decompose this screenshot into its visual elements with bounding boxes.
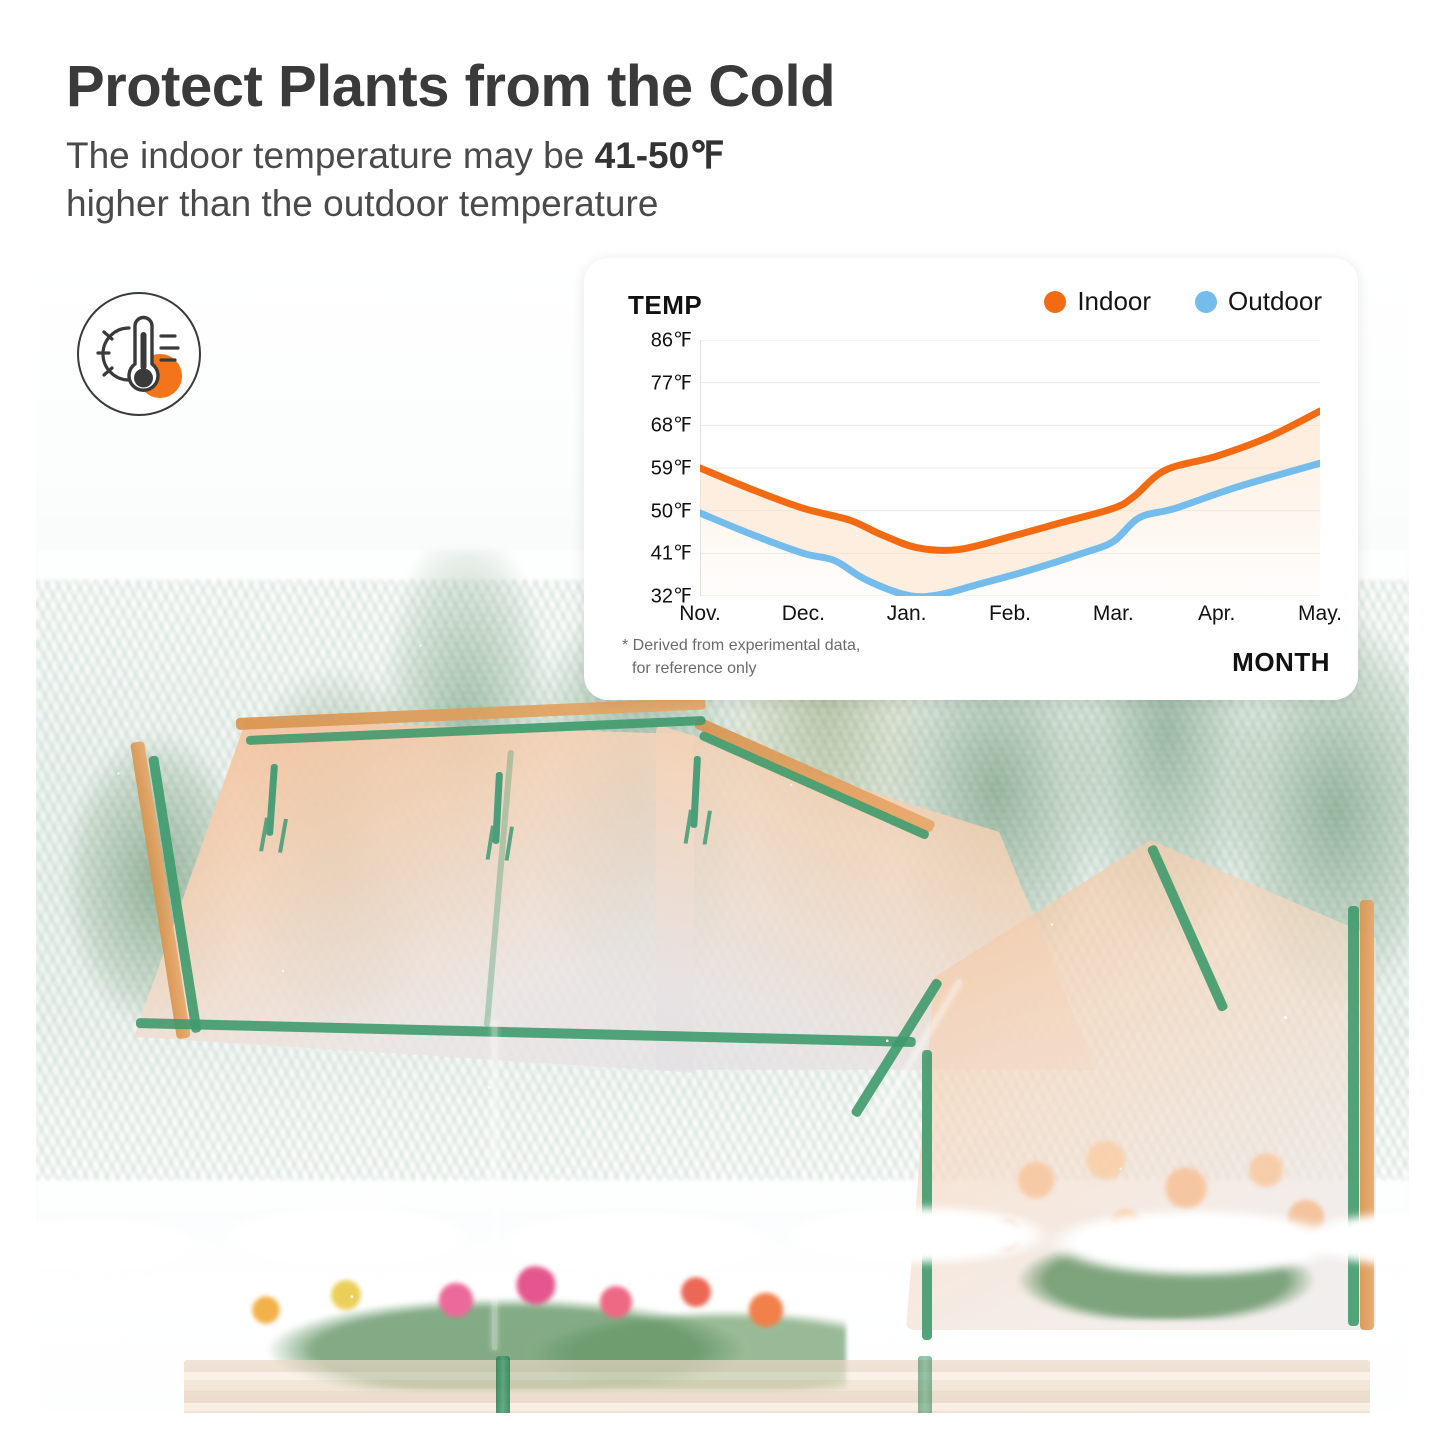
chart-legend: Indoor Outdoor	[1044, 286, 1322, 317]
subtitle-text-before: The indoor temperature may be	[66, 135, 595, 176]
y-tick-label: 68℉	[651, 413, 692, 438]
page-title: Protect Plants from the Cold	[66, 56, 1166, 119]
bed-center-post	[496, 1356, 510, 1413]
subtitle-text-line2: higher than the outdoor temperature	[66, 183, 658, 224]
x-tick-label: Apr.	[1198, 602, 1235, 626]
footnote-line-1: * Derived from experimental data,	[622, 635, 860, 657]
y-tick-label: 41℉	[651, 541, 692, 566]
raised-bed-plastic-sheen	[184, 1360, 1370, 1413]
x-tick-label: Nov.	[679, 602, 721, 626]
y-tick-label: 86℉	[651, 328, 692, 353]
x-tick-label: Feb.	[989, 602, 1031, 626]
legend-label-outdoor: Outdoor	[1228, 286, 1322, 317]
subtitle-highlight: 41-50℉	[595, 135, 725, 176]
legend-dot-indoor	[1044, 291, 1066, 313]
x-tick-label: Dec.	[782, 602, 825, 626]
snow-drift	[36, 1185, 1409, 1295]
footnote-line-2: for reference only	[622, 658, 860, 680]
x-axis-title: MONTH	[1232, 647, 1330, 678]
legend-item-indoor[interactable]: Indoor	[1044, 286, 1151, 317]
line-chart-svg	[700, 340, 1320, 596]
greenhouse-structure	[96, 720, 1396, 1410]
x-axis-tick-labels: Nov.Dec.Jan.Feb.Mar.Apr.May.	[692, 602, 1332, 636]
y-axis-tick-labels: 86℉77℉68℉59℉50℉41℉32℉	[618, 328, 692, 608]
thermometer-sun-icon	[77, 292, 201, 416]
y-tick-label: 77℉	[651, 370, 692, 395]
chart-plot-area	[700, 340, 1320, 596]
y-tick-label: 59℉	[651, 456, 692, 481]
temperature-chart-card: TEMP MONTH Indoor Outdoor 86℉77℉68℉59℉50…	[584, 258, 1358, 700]
x-tick-label: Jan.	[887, 602, 927, 626]
x-tick-label: May.	[1298, 602, 1342, 626]
legend-label-indoor: Indoor	[1077, 286, 1151, 317]
chart-footnote: * Derived from experimental data, for re…	[622, 635, 860, 680]
legend-dot-outdoor	[1195, 291, 1217, 313]
y-tick-label: 50℉	[651, 498, 692, 523]
y-axis-title: TEMP	[628, 290, 702, 321]
x-tick-label: Mar.	[1093, 602, 1134, 626]
bed-right-post	[918, 1356, 932, 1413]
page-subtitle: The indoor temperature may be 41-50℉ hig…	[66, 132, 1046, 228]
legend-item-outdoor[interactable]: Outdoor	[1195, 286, 1322, 317]
